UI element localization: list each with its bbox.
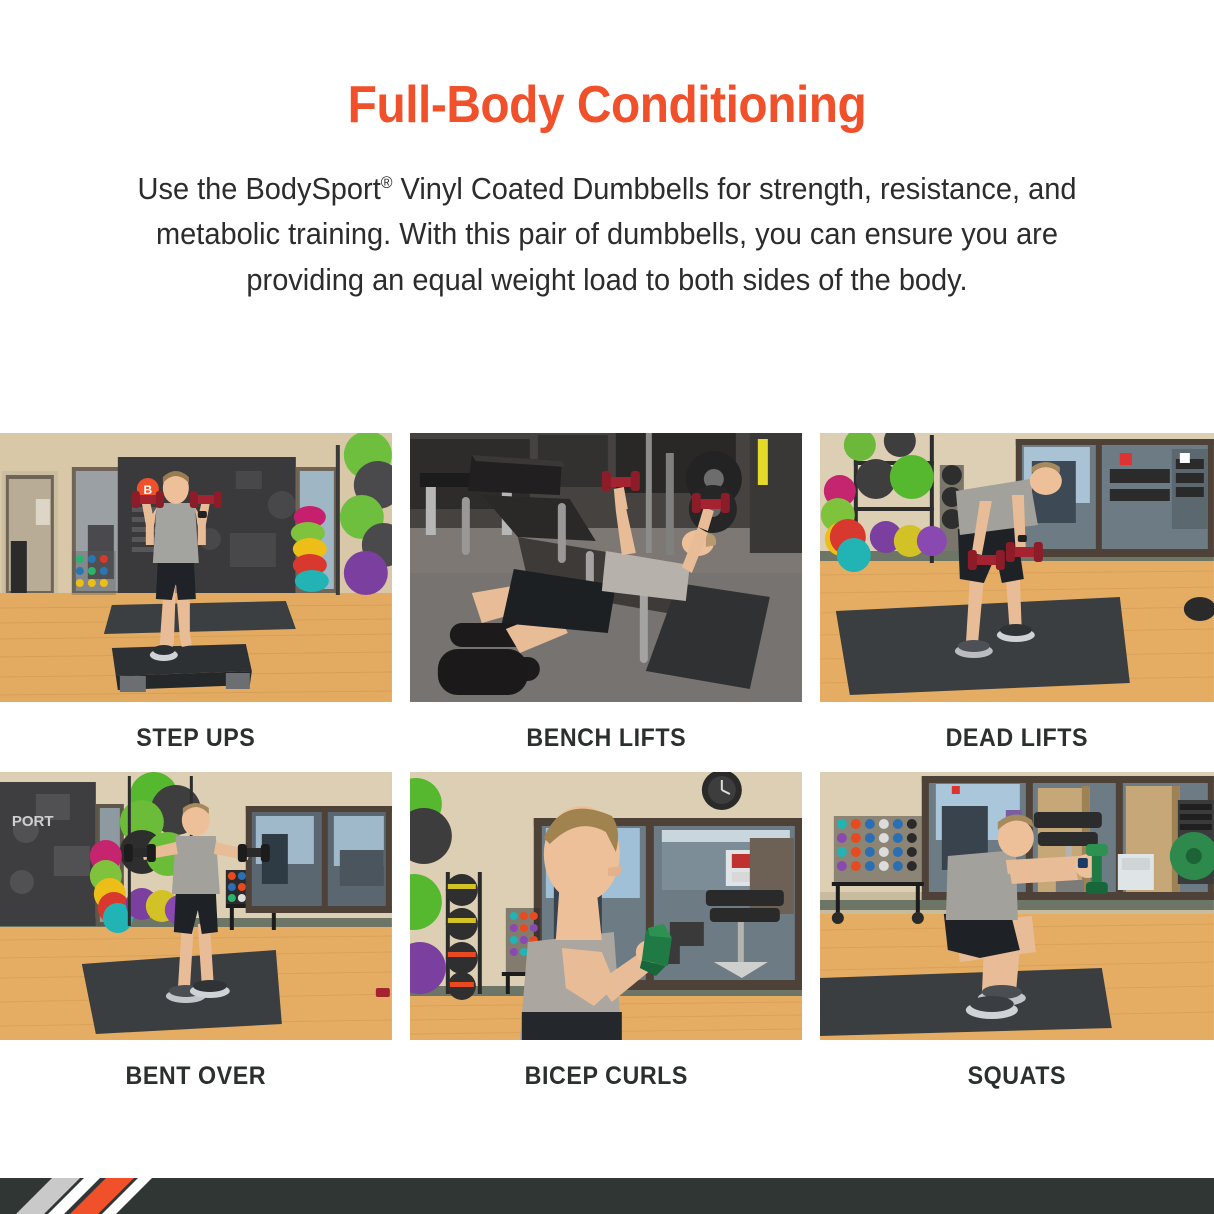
exercise-photo-dead-lifts bbox=[820, 433, 1214, 702]
exercise-photo-bench-lifts bbox=[410, 433, 803, 702]
svg-text:B: B bbox=[144, 483, 153, 497]
exercise-caption-bench-lifts: BENCH LIFTS bbox=[423, 702, 788, 753]
exercise-card-step-ups[interactable]: B bbox=[0, 433, 392, 753]
exercise-photo-squats bbox=[820, 772, 1214, 1040]
svg-text:PORT: PORT bbox=[12, 813, 54, 830]
exercise-card-bent-over[interactable]: PORT bbox=[0, 772, 392, 1091]
exercise-caption-bicep-curls: BICEP CURLS bbox=[423, 1040, 788, 1091]
poster-page: Full-Body Conditioning Use the BodySport… bbox=[0, 0, 1214, 1214]
exercise-card-bicep-curls[interactable]: BICEP CURLS bbox=[410, 772, 803, 1091]
bar-background bbox=[0, 1178, 1214, 1214]
intro-text-part1: Use the BodySport bbox=[138, 172, 381, 206]
exercise-row-1: B bbox=[0, 433, 1214, 753]
header: Full-Body Conditioning Use the BodySport… bbox=[0, 0, 1214, 304]
exercise-photo-bicep-curls bbox=[410, 772, 803, 1040]
bottom-accent-bar bbox=[0, 1178, 1214, 1214]
page-title: Full-Body Conditioning bbox=[49, 78, 1166, 133]
exercise-caption-squats: SQUATS bbox=[834, 1040, 1200, 1091]
exercise-caption-dead-lifts: DEAD LIFTS bbox=[834, 702, 1200, 753]
exercise-card-squats[interactable]: SQUATS bbox=[820, 772, 1214, 1091]
exercise-card-bench-lifts[interactable]: BENCH LIFTS bbox=[410, 433, 803, 753]
registered-trademark-symbol: ® bbox=[381, 172, 393, 191]
exercise-caption-step-ups: STEP UPS bbox=[14, 702, 378, 753]
exercise-photo-bent-over: PORT bbox=[0, 772, 392, 1040]
exercise-caption-bent-over: BENT OVER bbox=[14, 1040, 378, 1091]
exercise-row-2: PORT bbox=[0, 772, 1214, 1091]
exercise-card-dead-lifts[interactable]: DEAD LIFTS bbox=[820, 433, 1214, 753]
intro-paragraph: Use the BodySport® Vinyl Coated Dumbbell… bbox=[104, 167, 1111, 304]
exercise-grid: B bbox=[0, 433, 1214, 1091]
exercise-photo-step-ups: B bbox=[0, 433, 392, 702]
